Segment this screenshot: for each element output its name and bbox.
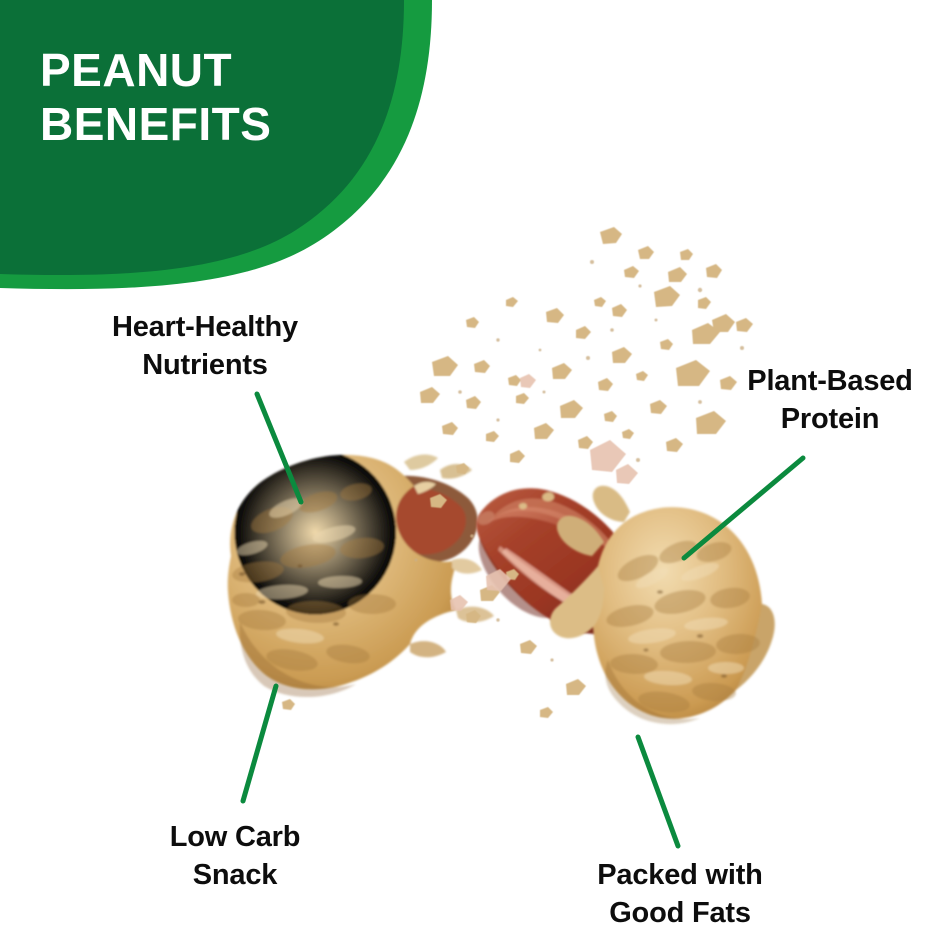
peanut-shell-right: [550, 486, 775, 724]
callout-heart-healthy: Heart-Healthy Nutrients: [60, 308, 350, 385]
callout-low-carb-line1: Low Carb: [110, 818, 360, 856]
leader-line-heart-healthy: [257, 394, 301, 502]
callout-good-fats: Packed with Good Fats: [550, 856, 810, 933]
callout-good-fats-line2: Good Fats: [550, 894, 810, 932]
callout-low-carb: Low Carb Snack: [110, 818, 360, 895]
page-title: PEANUT BENEFITS: [40, 44, 420, 152]
callout-good-fats-line1: Packed with: [550, 856, 810, 894]
infographic-canvas: PEANUT BENEFITS: [0, 0, 936, 936]
callout-plant-based-line2: Protein: [724, 400, 936, 438]
leader-line-plant-based: [684, 458, 803, 558]
shell-debris: [282, 227, 753, 718]
peanut-kernel: [475, 488, 642, 634]
callout-heart-healthy-line1: Heart-Healthy: [60, 308, 350, 346]
leader-line-good-fats: [638, 737, 678, 846]
title-line-1: PEANUT: [40, 44, 420, 98]
peanut-shell-left: [228, 455, 494, 698]
leader-line-low-carb: [243, 686, 276, 801]
callout-plant-based-line1: Plant-Based: [724, 362, 936, 400]
callout-plant-based: Plant-Based Protein: [724, 362, 936, 439]
callout-low-carb-line2: Snack: [110, 856, 360, 894]
callout-heart-healthy-line2: Nutrients: [60, 346, 350, 384]
title-line-2: BENEFITS: [40, 98, 420, 152]
